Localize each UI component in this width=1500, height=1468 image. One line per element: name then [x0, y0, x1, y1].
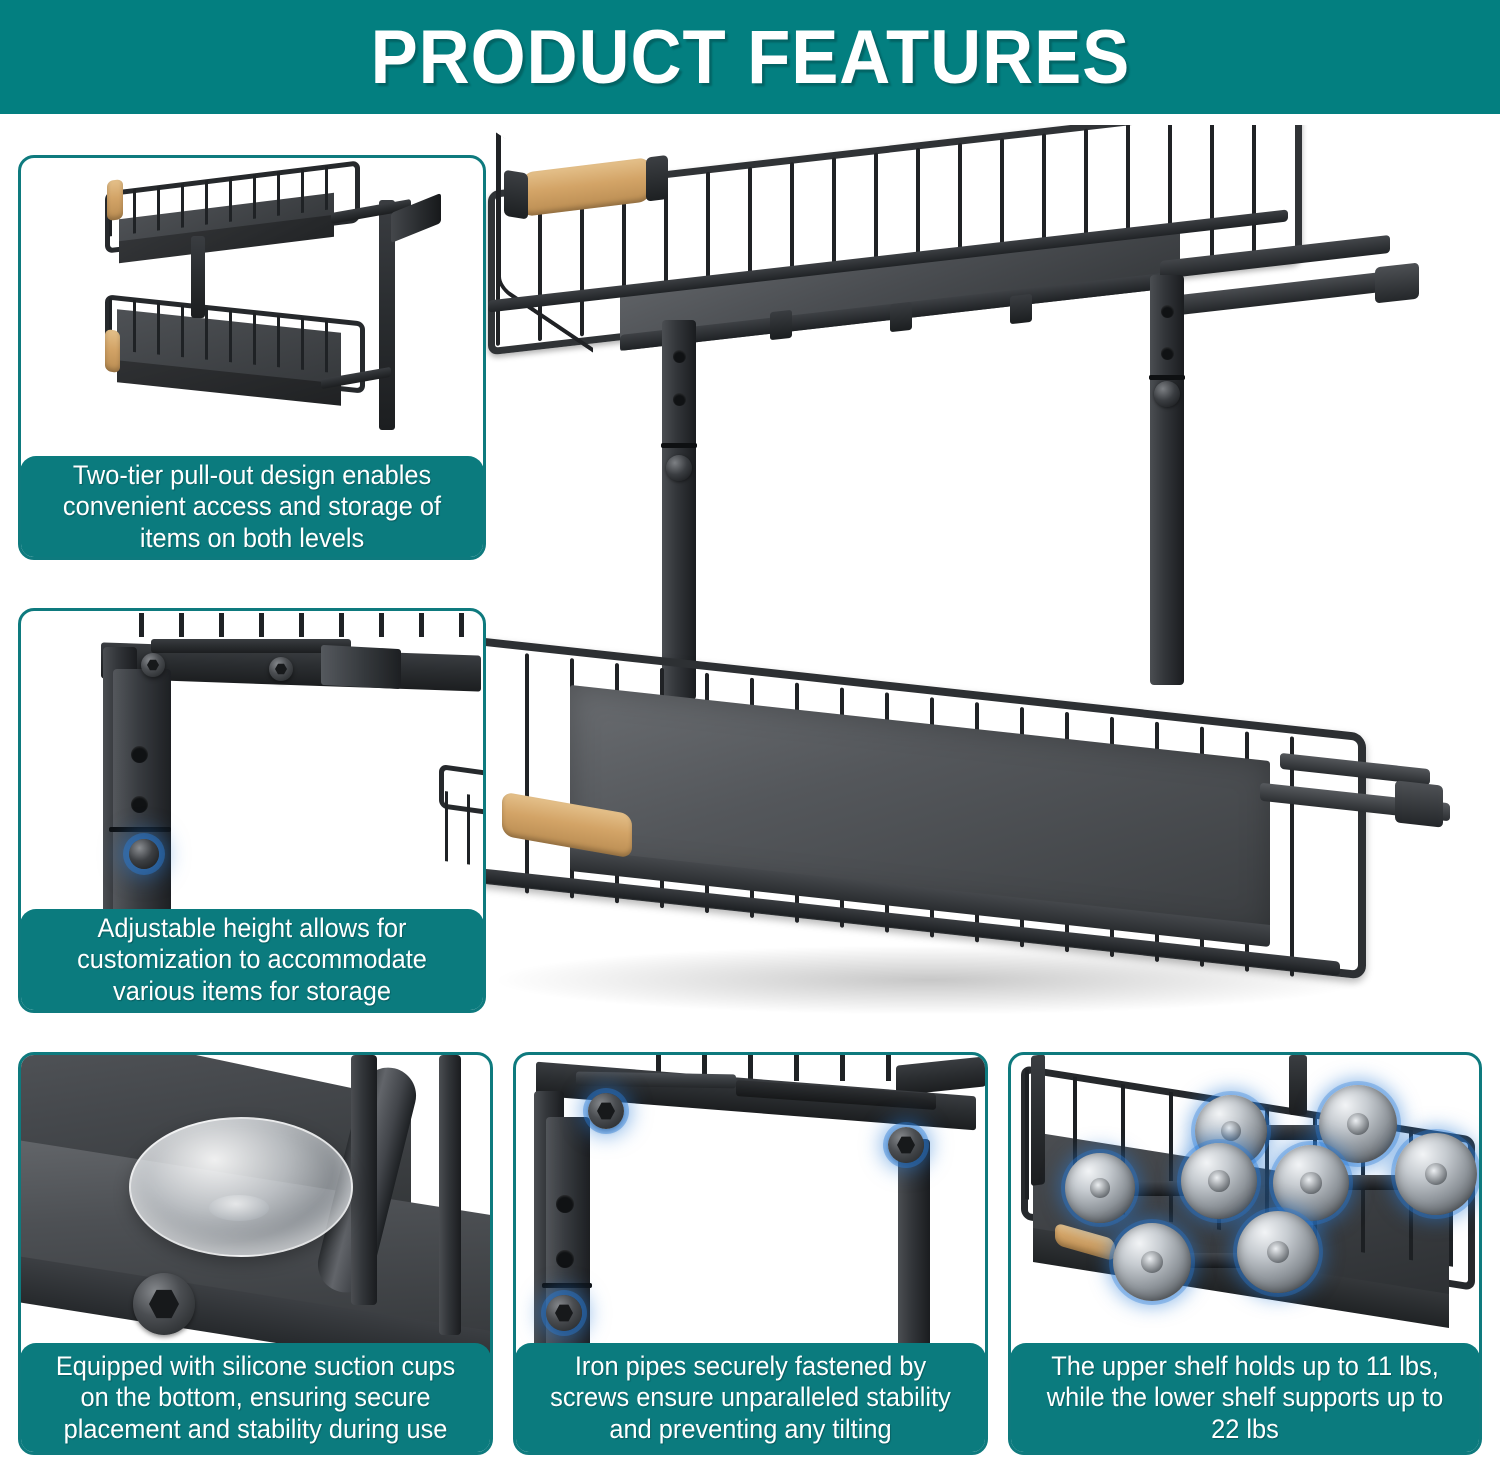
rail-clip — [1010, 294, 1032, 325]
feature-panel-two-tier: Two-tier pull-out design enables conveni… — [18, 155, 486, 560]
upper-rail-end-cap — [1375, 262, 1419, 303]
adjust-hole — [556, 1250, 574, 1268]
page-title: PRODUCT FEATURES — [370, 14, 1130, 101]
leg-seam — [1149, 375, 1185, 380]
feature-caption-suction: Equipped with silicone suction cups on t… — [20, 1343, 491, 1453]
leg-adjust-knob[interactable] — [1154, 381, 1180, 407]
rail-clip — [770, 310, 792, 341]
post-seam — [542, 1283, 592, 1288]
adjust-hole — [556, 1195, 574, 1213]
leg-seam — [661, 443, 697, 448]
basket-back-post — [1031, 1055, 1045, 1186]
adjust-hole — [131, 796, 148, 813]
leg-adjust-knob[interactable] — [666, 455, 692, 481]
product-shadow — [490, 945, 1370, 1015]
rail-clip — [890, 302, 912, 333]
page-header-banner: PRODUCT FEATURES — [0, 0, 1500, 114]
top-beam-plate — [576, 1072, 736, 1089]
feature-panel-screws: Iron pipes securely fastened by screws e… — [513, 1052, 988, 1455]
hex-screw-bottom-left — [546, 1295, 582, 1331]
hex-screw-top-right — [888, 1127, 924, 1163]
feature-caption-capacity: The upper shelf holds up to 11 lbs, whil… — [1010, 1343, 1480, 1453]
lower-rail-end-cap — [1395, 780, 1443, 827]
leg-hole — [1161, 347, 1174, 360]
leg-hole — [673, 393, 686, 406]
feature-panel-suction: Equipped with silicone suction cups on t… — [18, 1052, 493, 1455]
leg-back-right — [1150, 275, 1184, 685]
suction-cup — [129, 1117, 353, 1257]
mini-upper-handle — [107, 179, 123, 221]
hero-product-image — [430, 125, 1500, 1040]
handle-bracket-right — [646, 155, 668, 202]
hex-screw-top-left — [588, 1093, 624, 1129]
feature-caption-adjustable: Adjustable height allows for customizati… — [20, 909, 484, 1011]
side-basket-wires — [445, 791, 483, 883]
right-post — [898, 1139, 930, 1354]
suction-cup-nipple — [209, 1195, 269, 1221]
handle-bracket-left — [504, 170, 528, 220]
hex-bolt — [133, 1273, 195, 1335]
basket-center-post — [1289, 1055, 1307, 1115]
beam-connector — [321, 645, 401, 689]
mini-center-post — [191, 236, 205, 318]
feature-panel-adjustable: Adjustable height allows for customizati… — [18, 608, 486, 1013]
leg-front-left — [662, 320, 696, 700]
leg-hole — [673, 350, 686, 363]
vertical-post-right — [439, 1055, 461, 1335]
vertical-post — [351, 1055, 377, 1305]
feature-caption-screws: Iron pipes securely fastened by screws e… — [515, 1343, 986, 1453]
screw-socket — [141, 653, 165, 677]
post-seam — [109, 827, 171, 832]
adjust-hole — [131, 746, 148, 763]
mini-lower-handle — [105, 329, 120, 373]
feature-caption-two-tier: Two-tier pull-out design enables conveni… — [20, 456, 484, 558]
adjust-knob-highlight[interactable] — [129, 839, 159, 869]
leg-hole — [1161, 305, 1174, 318]
background-wires — [139, 613, 479, 639]
feature-panel-capacity: The upper shelf holds up to 11 lbs, whil… — [1008, 1052, 1482, 1455]
screw-socket — [269, 657, 293, 681]
